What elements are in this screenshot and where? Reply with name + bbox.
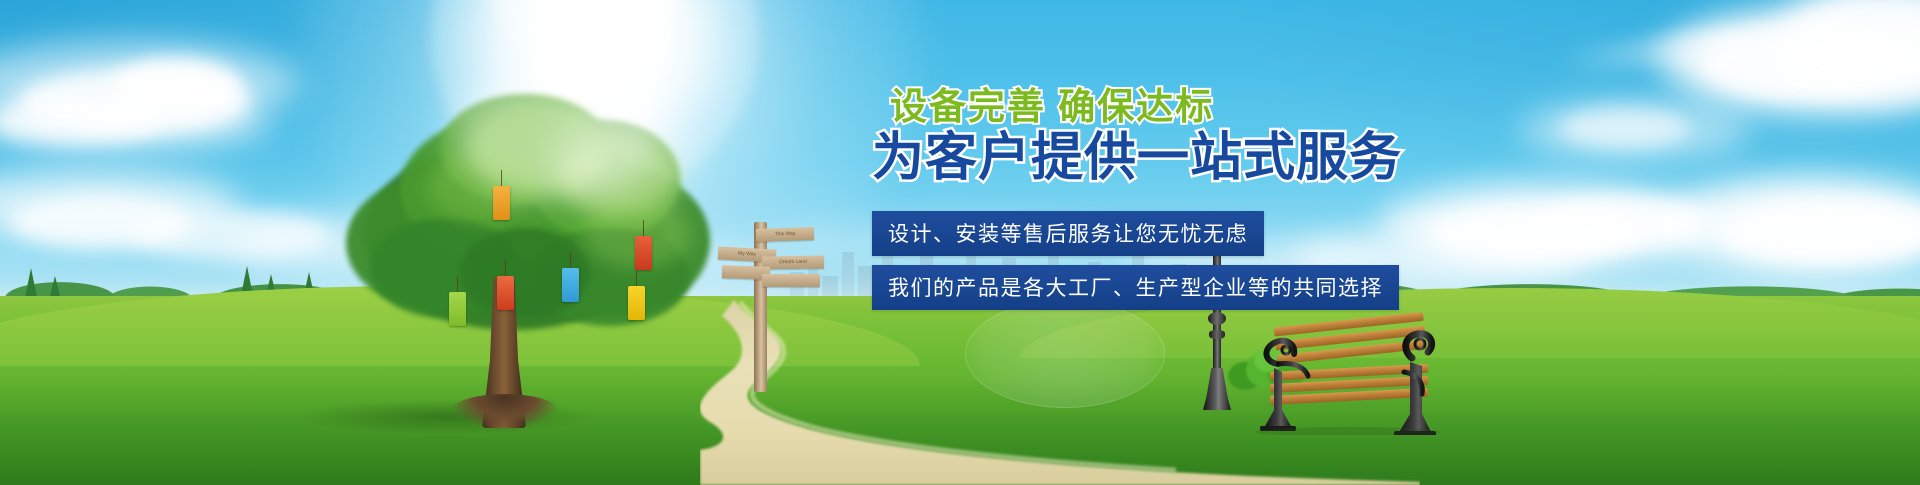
lamp-collar bbox=[1209, 330, 1225, 339]
tree-root bbox=[450, 394, 560, 430]
sign-arm-dream-land: Dream Land bbox=[762, 255, 824, 269]
wish-tag bbox=[635, 236, 652, 270]
banner-copy: 设备完善 确保达标 为客户提供一站式服务 设计、安装等售后服务让您无忧无虑 我们… bbox=[872, 86, 1472, 310]
headline-primary: 设备完善 确保达标 bbox=[890, 86, 1472, 127]
subbar-service: 设计、安装等售后服务让您无忧无虑 bbox=[872, 211, 1264, 256]
wooden-signpost: This Way My Way Dream Land bbox=[726, 222, 846, 392]
wish-tag bbox=[449, 292, 466, 326]
wish-tag bbox=[493, 186, 510, 220]
sign-arm-this-way: This Way bbox=[756, 227, 814, 242]
wish-tag bbox=[628, 286, 645, 320]
subbar-list: 设计、安装等售后服务让您无忧无虑 我们的产品是各大工厂、生产型企业等的共同选择 bbox=[872, 189, 1472, 310]
lamp-base bbox=[1203, 368, 1231, 410]
sign-arm-blank bbox=[762, 274, 820, 287]
subbar-clients: 我们的产品是各大工厂、生产型企业等的共同选择 bbox=[872, 265, 1399, 310]
headline-secondary: 为客户提供一站式服务 bbox=[872, 129, 1472, 188]
wish-tag bbox=[497, 276, 514, 310]
park-bench bbox=[1252, 310, 1442, 435]
lamp-collar bbox=[1208, 312, 1226, 325]
wish-tag bbox=[562, 268, 579, 302]
wish-tree bbox=[330, 78, 730, 408]
hero-banner: This Way My Way Dream Land bbox=[0, 0, 1920, 485]
